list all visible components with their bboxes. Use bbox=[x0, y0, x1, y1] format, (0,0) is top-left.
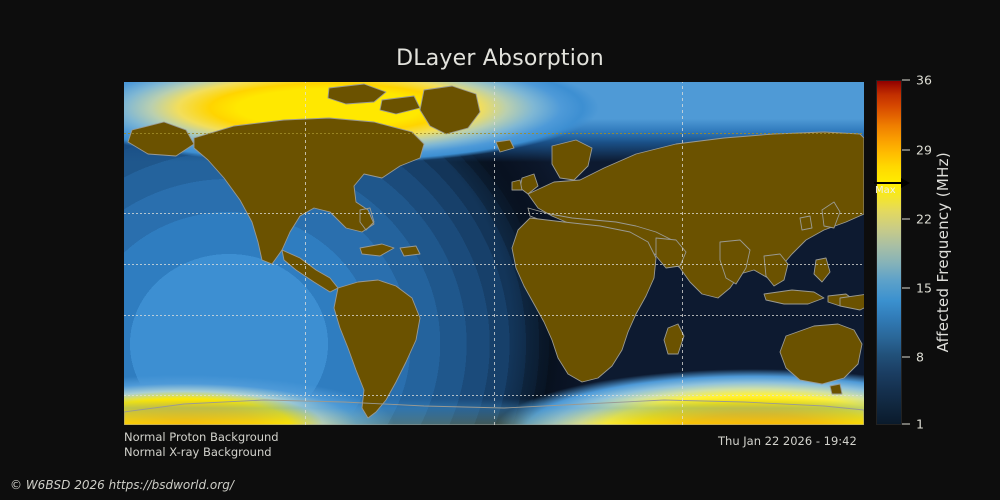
colorbar-tick: 29 bbox=[902, 143, 932, 158]
tick-mark bbox=[902, 219, 910, 220]
plot-canvas: DLayer Absorption bbox=[0, 0, 1000, 500]
graticule bbox=[124, 82, 864, 425]
colorbar-tick: 22 bbox=[902, 212, 932, 227]
tick-mark bbox=[902, 423, 910, 424]
xray-background-note: Normal X-ray Background bbox=[124, 445, 272, 459]
colorbar-tick: 36 bbox=[902, 73, 932, 88]
copyright-footer: © W6BSD 2026 https://bsdworld.org/ bbox=[10, 478, 234, 492]
proton-background-note: Normal Proton Background bbox=[124, 430, 279, 444]
tick-mark bbox=[902, 357, 910, 358]
timestamp: Thu Jan 22 2026 - 19:42 bbox=[718, 434, 857, 448]
colorbar-tick: 1 bbox=[902, 416, 924, 431]
page-title: DLayer Absorption bbox=[0, 46, 1000, 71]
gridline-lon-a bbox=[305, 82, 306, 425]
gridline-lon-b bbox=[494, 82, 495, 425]
colorbar-axis-title-text: Affected Frequency (MHz) bbox=[934, 152, 952, 352]
colorbar[interactable]: Max 36 29 22 15 8 bbox=[876, 80, 902, 425]
tick-mark bbox=[902, 80, 910, 81]
colorbar-tick-label: 1 bbox=[916, 416, 924, 431]
gridline-lon-c bbox=[682, 82, 683, 425]
tick-mark bbox=[902, 150, 910, 151]
colorbar-gradient bbox=[876, 80, 902, 425]
colorbar-axis-title: Affected Frequency (MHz) bbox=[930, 80, 956, 425]
colorbar-tick-label: 8 bbox=[916, 350, 924, 365]
colorbar-tick: 15 bbox=[902, 281, 932, 296]
colorbar-tick: 8 bbox=[902, 350, 924, 365]
world-absorption-map[interactable] bbox=[124, 82, 864, 425]
tick-mark bbox=[902, 288, 910, 289]
